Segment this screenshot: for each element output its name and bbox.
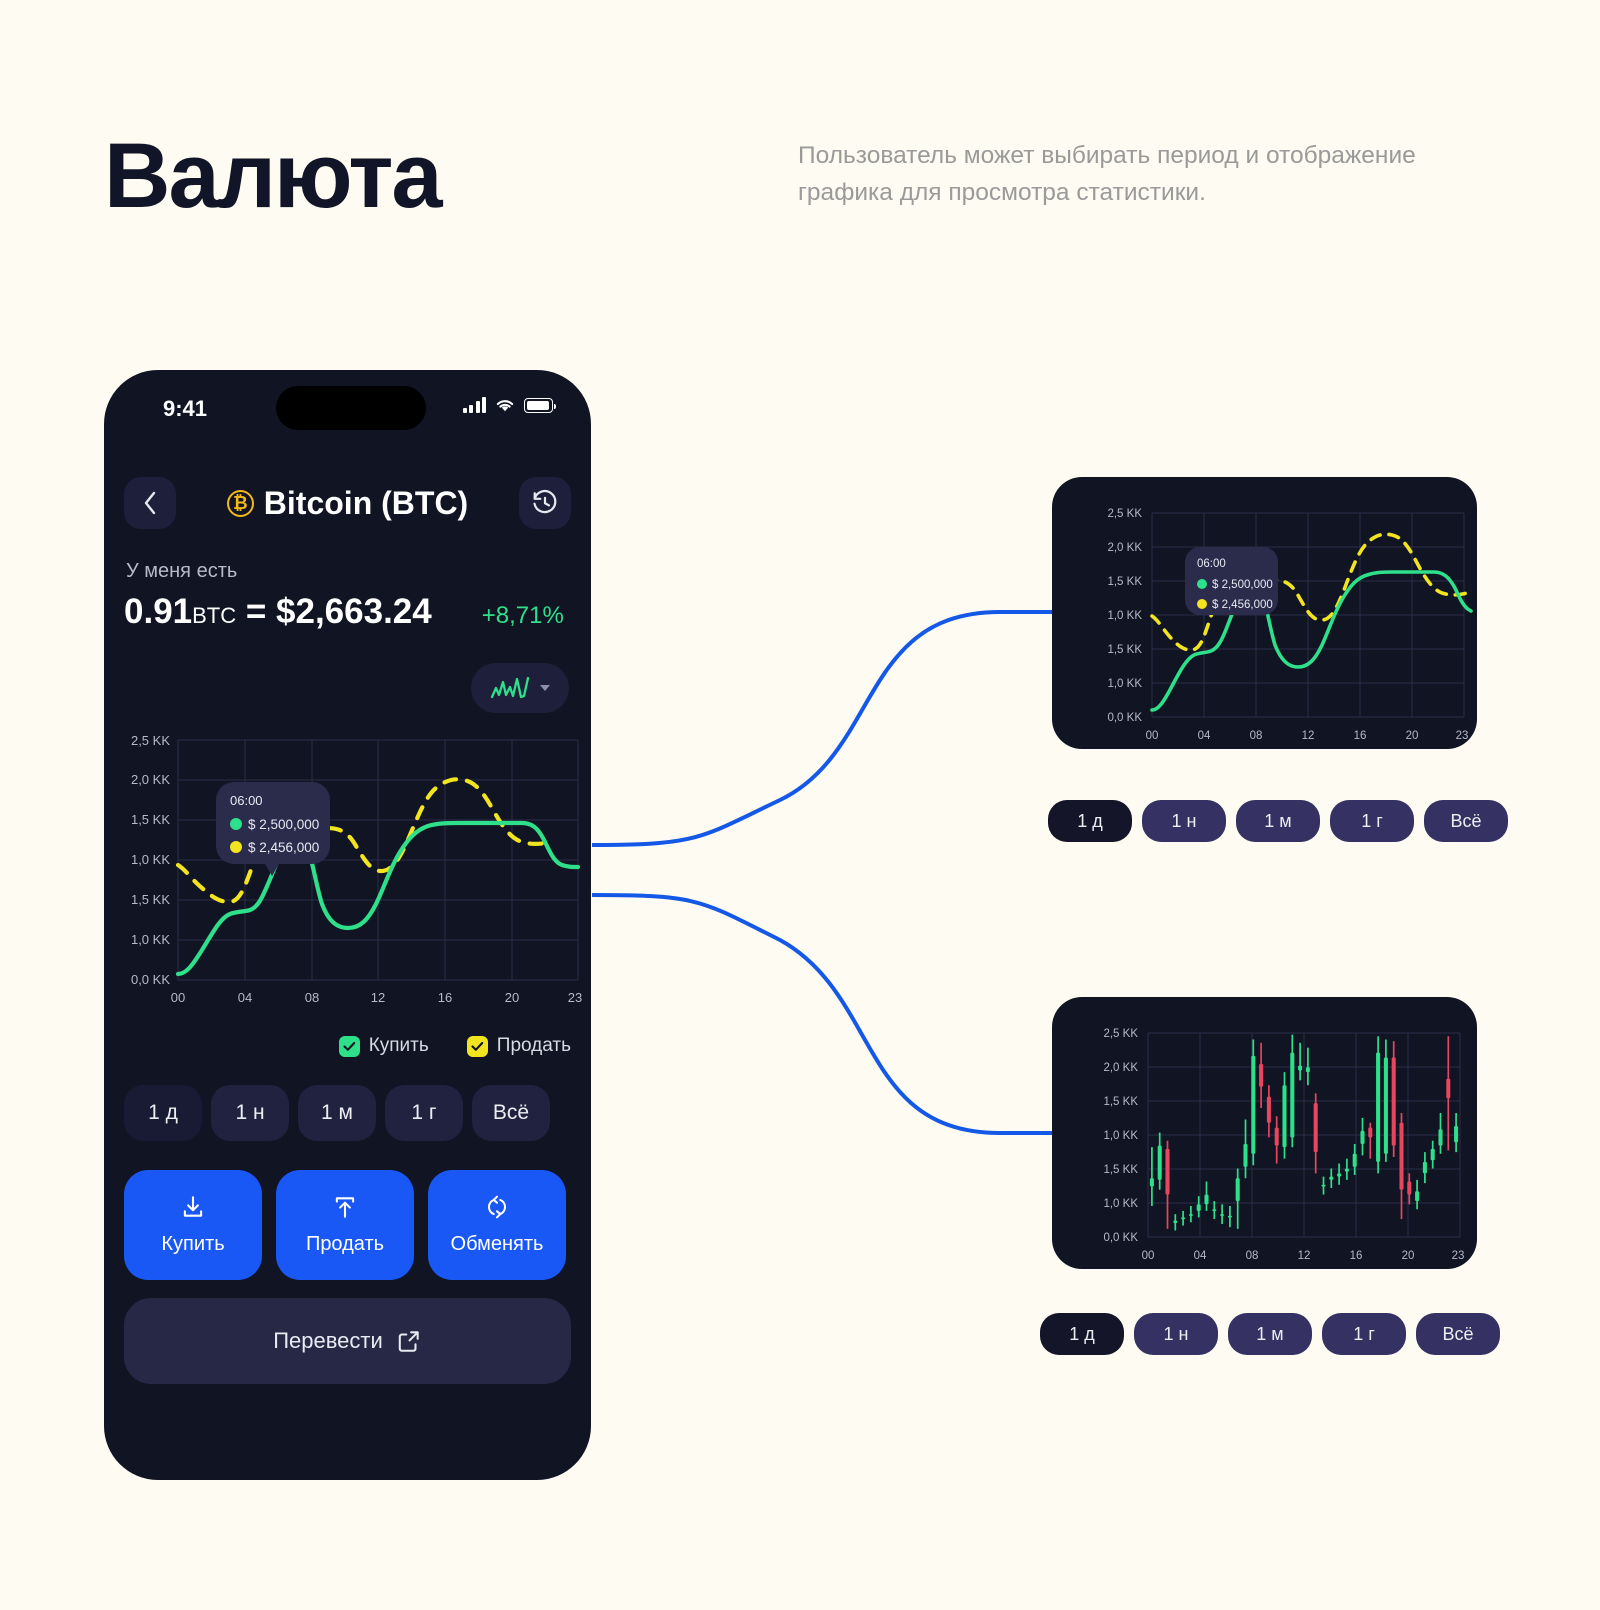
coin-title: Bitcoin (BTC) [264, 485, 468, 522]
tooltip-sell-value: $ 2,456,000 [1212, 599, 1273, 611]
svg-text:1,0 KK: 1,0 KK [1107, 610, 1142, 622]
dynamic-island [276, 386, 426, 430]
tooltip-buy-value: $ 2,500,000 [1212, 579, 1273, 591]
buy-button-label: Купить [161, 1233, 224, 1256]
candle-body [1392, 1057, 1396, 1145]
page-heading: ₿ Bitcoin (BTC) [176, 485, 519, 522]
balance-equivalent: = $2,663.24 [246, 592, 432, 631]
svg-text:1,5 KK: 1,5 KK [131, 892, 170, 907]
candle-body [1275, 1128, 1279, 1146]
candle-body [1353, 1154, 1357, 1167]
candle-body [1337, 1173, 1341, 1176]
svg-text:08: 08 [305, 990, 319, 1005]
svg-text:20: 20 [505, 990, 519, 1005]
action-buttons: Купить Продать Обменять [124, 1170, 566, 1280]
battery-icon [524, 398, 553, 413]
cellular-bars-icon [463, 397, 487, 413]
svg-text:20: 20 [1406, 730, 1419, 742]
svg-text:2,5 KK: 2,5 KK [1107, 508, 1142, 520]
nav-bar: ₿ Bitcoin (BTC) [104, 472, 591, 534]
svg-text:20: 20 [1402, 1250, 1415, 1262]
svg-text:23: 23 [1452, 1250, 1465, 1262]
sell-button-label: Продать [306, 1233, 384, 1256]
chart-legend: Купить Продать [339, 1035, 571, 1057]
svg-text:2,0 KK: 2,0 KK [131, 772, 170, 787]
candle-body [1243, 1144, 1247, 1167]
balance-amount: 0.91BTC = $2,663.24 [124, 592, 432, 632]
candle-body [1228, 1216, 1232, 1218]
svg-text:16: 16 [1350, 1250, 1363, 1262]
candle-body [1438, 1129, 1442, 1145]
period-pill-1m[interactable]: 1 м [298, 1085, 376, 1141]
chart-type-selector[interactable] [471, 663, 569, 713]
candle-body [1384, 1057, 1388, 1153]
svg-text:04: 04 [238, 990, 252, 1005]
svg-text:1,5 KK: 1,5 KK [131, 812, 170, 827]
candlestick-chart-card: 2,5 KK 2,0 KK 1,5 KK 1,0 KK 1,5 KK 1,0 K… [1052, 997, 1477, 1269]
balance-value: 0.91 [124, 592, 192, 631]
chevron-down-icon [540, 685, 550, 691]
svg-text:0,0 KK: 0,0 KK [1103, 1232, 1138, 1244]
svg-text:1,0 KK: 1,0 KK [1103, 1198, 1138, 1210]
svg-text:23: 23 [1456, 730, 1469, 742]
candle-body [1220, 1214, 1224, 1216]
period-pill-1w[interactable]: 1 н [1134, 1313, 1218, 1355]
period-pill-all[interactable]: Всё [1424, 800, 1508, 842]
period-selector: 1 д 1 н 1 м 1 г Всё [124, 1085, 550, 1141]
candle-body [1314, 1103, 1318, 1152]
svg-text:04: 04 [1194, 1250, 1207, 1262]
candle-body [1189, 1214, 1193, 1216]
upload-arrow-icon [332, 1194, 358, 1220]
svg-text:1,5 KK: 1,5 KK [1103, 1096, 1138, 1108]
line-card-period-selector: 1 д 1 н 1 м 1 г Всё [1048, 800, 1508, 842]
svg-text:2,5 KK: 2,5 KK [1103, 1028, 1138, 1040]
candle-body [1290, 1053, 1294, 1138]
tooltip-sell-dot [230, 841, 242, 853]
wifi-icon [494, 397, 516, 413]
exchange-button-label: Обменять [451, 1233, 544, 1256]
candle-body [1282, 1085, 1286, 1147]
candle-body [1446, 1079, 1450, 1099]
line-chart-icon [490, 675, 534, 701]
svg-text:1,0 KK: 1,0 KK [1107, 678, 1142, 690]
chart-tooltip: 06:00 $ 2,500,000 $ 2,456,000 [1185, 547, 1278, 615]
period-pill-1w[interactable]: 1 н [1142, 800, 1226, 842]
svg-text:0,0 KK: 0,0 KK [131, 972, 170, 987]
external-link-icon [396, 1328, 422, 1354]
svg-text:12: 12 [1302, 730, 1315, 742]
line-chart-card: 2,5 KK 2,0 KK 1,5 KK 1,0 KK 1,5 KK 1,0 K… [1052, 477, 1477, 749]
candle-card-period-selector: 1 д 1 н 1 м 1 г Всё [1040, 1313, 1500, 1355]
checkbox-checked-icon[interactable] [467, 1036, 488, 1057]
balance-label: У меня есть [126, 560, 237, 583]
svg-text:1,0 KK: 1,0 KK [131, 932, 170, 947]
transfer-button[interactable]: Перевести [124, 1298, 571, 1384]
period-pill-1y[interactable]: 1 г [1322, 1313, 1406, 1355]
candle-body [1399, 1123, 1403, 1190]
tooltip-buy-dot [230, 818, 242, 830]
candle-body [1204, 1195, 1208, 1205]
candle-body [1181, 1217, 1185, 1219]
period-pill-1m[interactable]: 1 м [1228, 1313, 1312, 1355]
tooltip-sell-value: $ 2,456,000 [248, 840, 319, 855]
page-description: Пользователь может выбирать период и ото… [798, 137, 1418, 211]
period-pill-1d[interactable]: 1 д [1048, 800, 1132, 842]
svg-text:0,0 KK: 0,0 KK [1107, 712, 1142, 724]
candle-body [1173, 1221, 1177, 1223]
svg-text:16: 16 [1354, 730, 1367, 742]
svg-text:2,0 KK: 2,0 KK [1107, 542, 1142, 554]
back-button[interactable] [124, 477, 176, 529]
svg-text:12: 12 [371, 990, 385, 1005]
legend-item-buy[interactable]: Купить [339, 1035, 429, 1057]
candle-body [1236, 1178, 1240, 1201]
candle-body [1158, 1146, 1162, 1180]
price-line-chart[interactable]: 2,5 KK 2,0 KK 1,5 KK 1,0 KK 1,5 KK 1,0 K… [112, 728, 582, 1018]
candle-body [1150, 1178, 1154, 1186]
candle-body [1376, 1053, 1380, 1162]
svg-text:16: 16 [438, 990, 452, 1005]
candle-body [1259, 1064, 1263, 1087]
svg-text:12: 12 [1298, 1250, 1311, 1262]
candle-body [1368, 1128, 1372, 1138]
balance-row: 0.91BTC = $2,663.24 +8,71% [124, 592, 571, 632]
candle-body [1165, 1149, 1169, 1195]
candle-body [1321, 1185, 1325, 1187]
line-chart-detail[interactable]: 2,5 KK 2,0 KK 1,5 KK 1,0 KK 1,5 KK 1,0 K… [1052, 477, 1477, 749]
period-pill-1w[interactable]: 1 н [211, 1085, 289, 1141]
download-arrow-icon [180, 1194, 206, 1220]
swap-refresh-icon [484, 1194, 510, 1220]
legend-label-buy: Купить [369, 1035, 429, 1057]
page-root: Валюта Пользователь может выбирать перио… [0, 0, 1600, 1610]
svg-text:1,0 KK: 1,0 KK [131, 852, 170, 867]
balance-unit: BTC [192, 603, 236, 628]
candle-body [1267, 1097, 1271, 1123]
svg-text:08: 08 [1246, 1250, 1259, 1262]
candle-body [1345, 1168, 1349, 1171]
period-pill-1y[interactable]: 1 г [1330, 800, 1414, 842]
tooltip-buy-dot [1197, 579, 1207, 589]
candle-body [1454, 1126, 1458, 1142]
candle-body [1306, 1067, 1310, 1072]
svg-text:1,5 KK: 1,5 KK [1107, 644, 1142, 656]
transfer-button-label: Перевести [273, 1328, 383, 1354]
chart-tooltip: 06:00 $ 2,500,000 $ 2,456,000 [216, 782, 330, 876]
history-button[interactable] [519, 477, 571, 529]
tooltip-buy-value: $ 2,500,000 [248, 817, 319, 832]
status-clock: 9:41 [163, 396, 207, 422]
candle-body [1407, 1182, 1411, 1195]
balance-change: +8,71% [482, 602, 564, 630]
tooltip-time: 06:00 [1197, 558, 1226, 570]
page-title: Валюта [104, 128, 441, 225]
svg-text:00: 00 [1142, 1250, 1155, 1262]
buy-button[interactable]: Купить [124, 1170, 262, 1280]
history-clock-icon [531, 489, 559, 517]
legend-item-sell[interactable]: Продать [467, 1035, 571, 1057]
svg-text:2,0 KK: 2,0 KK [1103, 1062, 1138, 1074]
period-pill-1y[interactable]: 1 г [385, 1085, 463, 1141]
sell-button[interactable]: Продать [276, 1170, 414, 1280]
candle-body [1212, 1209, 1216, 1211]
candle-body [1415, 1191, 1419, 1201]
candle-body [1423, 1162, 1427, 1173]
svg-text:2,5 KK: 2,5 KK [131, 733, 170, 748]
svg-text:08: 08 [1250, 730, 1263, 742]
svg-text:1,5 KK: 1,5 KK [1103, 1164, 1138, 1176]
candle-body [1431, 1149, 1435, 1160]
period-pill-all[interactable]: Всё [472, 1085, 550, 1141]
exchange-button[interactable]: Обменять [428, 1170, 566, 1280]
candle-body [1329, 1177, 1333, 1180]
svg-text:00: 00 [1146, 730, 1159, 742]
tooltip-sell-dot [1197, 599, 1207, 609]
period-pill-1d[interactable]: 1 д [124, 1085, 202, 1141]
svg-text:1,0 KK: 1,0 KK [1103, 1130, 1138, 1142]
tooltip-time: 06:00 [230, 793, 263, 808]
chevron-left-icon [143, 491, 157, 515]
phone-mockup: 9:41 ₿ Bitcoin (BTC) [104, 370, 591, 1480]
candle-body [1360, 1131, 1364, 1144]
checkbox-checked-icon[interactable] [339, 1036, 360, 1057]
status-bar: 9:41 [104, 370, 591, 446]
svg-text:23: 23 [568, 990, 582, 1005]
candlestick-chart-detail[interactable]: 2,5 KK 2,0 KK 1,5 KK 1,0 KK 1,5 KK 1,0 K… [1052, 997, 1477, 1269]
candle-body [1298, 1066, 1302, 1071]
period-pill-1d[interactable]: 1 д [1040, 1313, 1124, 1355]
candle-body [1251, 1056, 1255, 1154]
period-pill-all[interactable]: Всё [1416, 1313, 1500, 1355]
bitcoin-logo-icon: ₿ [227, 490, 254, 517]
svg-text:00: 00 [171, 990, 185, 1005]
svg-text:1,5 KK: 1,5 KK [1107, 576, 1142, 588]
period-pill-1m[interactable]: 1 м [1236, 800, 1320, 842]
candle-body [1197, 1204, 1201, 1211]
legend-label-sell: Продать [497, 1035, 571, 1057]
svg-text:04: 04 [1198, 730, 1211, 742]
